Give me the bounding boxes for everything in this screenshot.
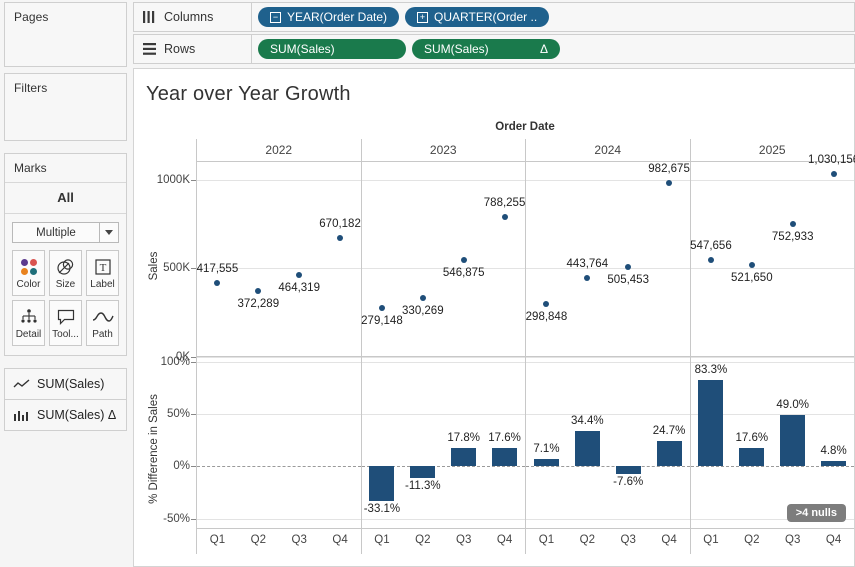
gridline: [197, 414, 361, 415]
path-button-label: Path: [92, 329, 113, 340]
data-label: 298,848: [526, 311, 568, 323]
line-path-2022: [197, 162, 361, 357]
quarter-header-2022-Q1[interactable]: Q1: [197, 529, 238, 554]
bar-axis-tick-label: -50%: [163, 513, 190, 525]
line-panel-2024: 298,848443,764505,453982,675: [526, 162, 691, 356]
pill-sum-sales[interactable]: SUM(Sales): [258, 39, 406, 59]
data-label: 1,030,156: [808, 154, 855, 166]
data-label: 505,453: [607, 274, 649, 286]
bar[interactable]: [657, 441, 682, 467]
bar-label: 7.1%: [533, 443, 559, 455]
pill-quarter-order-date-label: QUARTER(Order ..: [434, 10, 537, 24]
quarter-header-2024-Q3[interactable]: Q3: [608, 529, 649, 554]
bar[interactable]: [369, 466, 394, 501]
marks-label: Marks: [5, 154, 126, 183]
quarter-header-2025-Q4[interactable]: Q4: [813, 529, 854, 554]
bar-axis-tick-label: 100%: [161, 356, 190, 368]
rows-label: Rows: [164, 42, 195, 56]
bar-panel-2025: 83.3%17.6%49.0%4.8%: [691, 357, 855, 528]
data-point[interactable]: [831, 171, 837, 177]
data-label: 417,555: [197, 263, 239, 275]
data-label: 279,148: [361, 315, 403, 327]
bar[interactable]: [492, 448, 517, 466]
quarter-header-2025-Q1[interactable]: Q1: [691, 529, 732, 554]
size-button-label: Size: [56, 279, 75, 290]
svg-text:T: T: [99, 262, 106, 274]
data-label: 372,289: [238, 298, 280, 310]
tableau-worksheet: Pages Filters Marks All Multiple: [0, 0, 855, 567]
marks-card: Marks All Multiple Color: [4, 153, 127, 356]
filters-label: Filters: [5, 74, 126, 101]
bar[interactable]: [698, 380, 723, 467]
year-header-2022[interactable]: 2022: [196, 139, 361, 161]
rows-icon: [143, 43, 156, 55]
left-sidebar: Pages Filters Marks All Multiple: [0, 0, 131, 567]
line-mark-icon: [13, 379, 30, 390]
data-point[interactable]: [666, 180, 672, 186]
data-point[interactable]: [461, 257, 467, 263]
color-palette-icon: [21, 256, 37, 278]
line-panel-2022: 417,555372,289464,319670,182: [197, 162, 362, 356]
zero-reference-line: [526, 466, 690, 467]
bar[interactable]: [739, 448, 764, 466]
quarter-group-2023: Q1Q2Q3Q4: [361, 529, 526, 554]
text-label-icon: T: [95, 256, 111, 278]
data-label: 464,319: [278, 282, 320, 294]
line-path-2023: [362, 162, 526, 357]
mark-type-value: Multiple: [12, 222, 100, 243]
quarter-header-2023-Q2[interactable]: Q2: [402, 529, 443, 554]
data-point[interactable]: [502, 214, 508, 220]
data-point[interactable]: [625, 264, 631, 270]
filters-card[interactable]: Filters: [4, 73, 127, 141]
data-point[interactable]: [749, 262, 755, 268]
bar-label: -33.1%: [364, 503, 400, 515]
year-header-row: 2022202320242025: [196, 139, 854, 162]
bar-label: 17.6%: [736, 432, 769, 444]
collapse-box-icon[interactable]: −: [270, 12, 281, 23]
chevron-down-icon[interactable]: [100, 222, 119, 243]
line-chart-area: 417,555372,289464,319670,182279,148330,2…: [196, 162, 854, 357]
rows-shelf-label-cell: Rows: [133, 34, 252, 64]
detail-button[interactable]: Detail: [12, 300, 45, 346]
data-label: 982,675: [648, 163, 690, 175]
quarter-header-2024-Q1[interactable]: Q1: [526, 529, 567, 554]
data-point[interactable]: [255, 288, 261, 294]
data-point[interactable]: [543, 301, 549, 307]
data-point[interactable]: [296, 272, 302, 278]
tooltip-bubble-icon: [57, 306, 75, 328]
quarter-group-2024: Q1Q2Q3Q4: [525, 529, 690, 554]
viz-pane: Year over Year Growth Order Date 2022202…: [133, 68, 855, 567]
quarter-group-2022: Q1Q2Q3Q4: [196, 529, 361, 554]
data-label: 546,875: [443, 267, 485, 279]
marks-all-tab[interactable]: All: [5, 183, 126, 214]
mark-card-sum-sales-label: SUM(Sales): [37, 377, 104, 391]
tooltip-button[interactable]: Tool...: [49, 300, 82, 346]
line-axis-tick-label: 500K: [163, 262, 190, 274]
data-point[interactable]: [379, 305, 385, 311]
path-line-icon: [92, 306, 114, 328]
line-panel-2025: 547,656521,650752,9331,030,156: [691, 162, 855, 356]
quarter-header-2023-Q3[interactable]: Q3: [443, 529, 484, 554]
columns-shelf-drop-area[interactable]: − YEAR(Order Date) + QUARTER(Order ..: [252, 2, 855, 32]
bar-label: 17.6%: [488, 432, 521, 444]
pill-year-order-date[interactable]: − YEAR(Order Date): [258, 7, 399, 27]
line-path-2025: [691, 162, 855, 357]
data-point[interactable]: [708, 257, 714, 263]
bar-label: 34.4%: [571, 415, 604, 427]
data-label: 547,656: [690, 240, 732, 252]
data-label: 521,650: [731, 272, 773, 284]
bar[interactable]: [451, 448, 476, 467]
pill-year-order-date-label: YEAR(Order Date): [287, 10, 387, 24]
gridline: [362, 519, 526, 520]
mark-card-sum-sales-delta-label: SUM(Sales) Δ: [37, 408, 116, 422]
columns-shelf-label-cell: Columns: [133, 2, 252, 32]
data-label: 443,764: [567, 258, 609, 270]
path-button[interactable]: Path: [86, 300, 119, 346]
quarter-header-2022-Q4[interactable]: Q4: [320, 529, 361, 554]
chart-grid: Order Date 2022202320242025 417,555372,2…: [134, 121, 854, 566]
color-button[interactable]: Color: [12, 250, 45, 296]
bar-chart-area: -33.1%-11.3%17.8%17.6%7.1%34.4%-7.6%24.7…: [196, 357, 854, 529]
data-label: 752,933: [772, 231, 814, 243]
gridline: [197, 362, 361, 363]
quarter-header-2024-Q2[interactable]: Q2: [567, 529, 608, 554]
tooltip-button-label: Tool...: [52, 329, 79, 340]
quarter-group-2025: Q1Q2Q3Q4: [690, 529, 855, 554]
line-panel-2023: 279,148330,269546,875788,255: [362, 162, 527, 356]
zero-reference-line: [197, 466, 361, 467]
bar-label: 4.8%: [820, 445, 846, 457]
size-circles-icon: [56, 256, 76, 278]
pill-sum-sales-label: SUM(Sales): [270, 42, 335, 56]
bar[interactable]: [821, 461, 846, 466]
line-axis-tick-label: 0K: [176, 351, 190, 363]
gridline: [526, 362, 690, 363]
column-header-title: Order Date: [196, 121, 854, 133]
quarter-header-2025-Q2[interactable]: Q2: [731, 529, 772, 554]
bar-panel-2022: [197, 357, 362, 528]
expand-box-icon[interactable]: +: [417, 12, 428, 23]
quarter-header-2022-Q3[interactable]: Q3: [279, 529, 320, 554]
bar[interactable]: [534, 459, 559, 466]
year-header-2023[interactable]: 2023: [361, 139, 526, 161]
detail-hierarchy-icon: [19, 306, 39, 328]
data-point[interactable]: [420, 295, 426, 301]
label-button-label: Label: [90, 279, 114, 290]
data-label: 788,255: [484, 197, 526, 209]
delta-icon: Δ: [540, 42, 548, 56]
columns-label: Columns: [164, 10, 213, 24]
bar[interactable]: [780, 415, 805, 466]
columns-shelf[interactable]: Columns − YEAR(Order Date) + QUARTER(Ord…: [133, 2, 855, 32]
bar-label: 83.3%: [695, 364, 728, 376]
pill-sum-sales-delta[interactable]: SUM(Sales) Δ: [412, 39, 560, 59]
line-axis-tick-label: 1000K: [157, 174, 190, 186]
data-point[interactable]: [337, 235, 343, 241]
quarter-header-2024-Q4[interactable]: Q4: [649, 529, 690, 554]
bar-label: -11.3%: [405, 480, 441, 492]
pill-quarter-order-date[interactable]: + QUARTER(Order ..: [405, 7, 549, 27]
shelves-area: Columns − YEAR(Order Date) + QUARTER(Ord…: [133, 0, 855, 66]
data-point[interactable]: [790, 221, 796, 227]
bar-label: 49.0%: [776, 399, 809, 411]
pill-sum-sales-delta-label: SUM(Sales): [424, 42, 489, 56]
bar-label: 17.8%: [447, 432, 480, 444]
size-button[interactable]: Size: [49, 250, 82, 296]
bar-panel-2023: -33.1%-11.3%17.8%17.6%: [362, 357, 527, 528]
gridline: [197, 519, 361, 520]
mark-card-sum-sales[interactable]: SUM(Sales): [4, 368, 127, 399]
gridline: [526, 519, 690, 520]
gridline: [362, 414, 526, 415]
quarter-header-2023-Q4[interactable]: Q4: [484, 529, 525, 554]
mark-card-sum-sales-delta[interactable]: SUM(Sales) Δ: [4, 399, 127, 431]
gridline: [526, 414, 690, 415]
quarter-header-2022-Q2[interactable]: Q2: [238, 529, 279, 554]
bar-label: -7.6%: [613, 476, 643, 488]
quarter-header-2023-Q1[interactable]: Q1: [362, 529, 403, 554]
mark-type-dropdown[interactable]: Multiple: [12, 222, 119, 243]
data-point[interactable]: [584, 275, 590, 281]
bar[interactable]: [575, 431, 600, 467]
year-header-2024[interactable]: 2024: [525, 139, 690, 161]
data-point[interactable]: [214, 280, 220, 286]
bar-mark-icon: [13, 410, 30, 421]
quarter-header-row: Q1Q2Q3Q4Q1Q2Q3Q4Q1Q2Q3Q4Q1Q2Q3Q4: [196, 529, 854, 554]
bar-axis-tick-label: 0%: [173, 460, 190, 472]
label-button[interactable]: T Label: [86, 250, 119, 296]
rows-shelf-drop-area[interactable]: SUM(Sales) SUM(Sales) Δ: [252, 34, 855, 64]
bar-label: 24.7%: [653, 425, 686, 437]
bar[interactable]: [410, 466, 435, 478]
detail-button-label: Detail: [16, 329, 42, 340]
pages-card[interactable]: Pages: [4, 2, 127, 67]
zero-reference-line: [691, 466, 855, 467]
bar-axis-tick-label: 50%: [167, 408, 190, 420]
rows-shelf[interactable]: Rows SUM(Sales) SUM(Sales) Δ: [133, 34, 855, 64]
columns-icon: [143, 11, 156, 23]
quarter-header-2025-Q3[interactable]: Q3: [772, 529, 813, 554]
page-title: Year over Year Growth: [134, 69, 854, 106]
color-button-label: Color: [17, 279, 41, 290]
bar-panel-2024: 7.1%34.4%-7.6%24.7%: [526, 357, 691, 528]
gridline: [362, 362, 526, 363]
bar[interactable]: [616, 466, 641, 474]
data-label: 670,182: [319, 218, 361, 230]
data-label: 330,269: [402, 305, 444, 317]
pages-label: Pages: [5, 3, 126, 30]
nulls-badge[interactable]: >4 nulls: [787, 504, 846, 522]
